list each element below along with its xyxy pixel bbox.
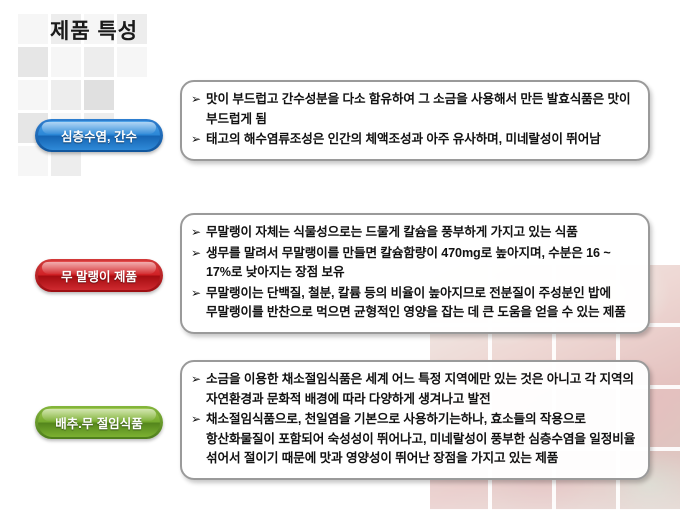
content-box-2: ➢ 무말랭이 자체는 식물성으로는 드물게 칼슘을 풍부하게 가지고 있는 식품… <box>180 213 650 334</box>
arrow-bullet-icon: ➢ <box>191 223 201 243</box>
arrow-bullet-icon: ➢ <box>191 410 201 430</box>
arrow-bullet-icon: ➢ <box>191 90 201 110</box>
list-item: ➢ 생무를 말려서 무말랭이를 만들면 칼슘함량이 470mg로 높아지며, 수… <box>191 244 636 283</box>
list-item: ➢ 채소절임식품으로, 천일염을 기본으로 사용하기는하나, 효소들의 작용으로… <box>191 410 636 469</box>
bullet-text: 채소절임식품으로, 천일염을 기본으로 사용하기는하나, 효소들의 작용으로 항… <box>206 412 635 465</box>
list-item: ➢ 소금을 이용한 채소절임식품은 세계 어느 특정 지역에만 있는 것은 아니… <box>191 370 636 409</box>
list-item: ➢ 무말랭이 자체는 식물성으로는 드물게 칼슘을 풍부하게 가지고 있는 식품 <box>191 223 636 243</box>
arrow-bullet-icon: ➢ <box>191 130 201 150</box>
section-label-pill-1[interactable]: 심층수염, 간수 <box>35 119 163 152</box>
bullet-text: 무말랭이 자체는 식물성으로는 드물게 칼슘을 풍부하게 가지고 있는 식품 <box>206 225 578 239</box>
list-item: ➢ 무말랭이는 단백질, 철분, 칼륨 등의 비율이 높아지므로 전분질이 주성… <box>191 284 636 323</box>
bullet-text: 무말랭이는 단백질, 철분, 칼륨 등의 비율이 높아지므로 전분질이 주성분인… <box>206 286 626 320</box>
arrow-bullet-icon: ➢ <box>191 284 201 304</box>
list-item: ➢ 태고의 해수염류조성은 인간의 체액조성과 아주 유사하며, 미네랄성이 뛰… <box>191 130 636 150</box>
slide-canvas: 제품 특성 심층수염, 간수 ➢ 맛이 부드럽고 간수성분을 다소 함유하여 그… <box>0 0 680 510</box>
bullet-text: 맛이 부드럽고 간수성분을 다소 함유하여 그 소금을 사용해서 만든 발효식품… <box>206 92 631 126</box>
page-title: 제품 특성 <box>50 18 138 46</box>
arrow-bullet-icon: ➢ <box>191 244 201 264</box>
section-label-text-3: 배추.무 절임식품 <box>55 413 142 432</box>
bullet-list-1: ➢ 맛이 부드럽고 간수성분을 다소 함유하여 그 소금을 사용해서 만든 발효… <box>191 90 636 150</box>
bullet-list-2: ➢ 무말랭이 자체는 식물성으로는 드물게 칼슘을 풍부하게 가지고 있는 식품… <box>191 223 636 323</box>
section-label-pill-2[interactable]: 무 말랭이 제품 <box>35 259 163 292</box>
bullet-list-3: ➢ 소금을 이용한 채소절임식품은 세계 어느 특정 지역에만 있는 것은 아니… <box>191 370 636 469</box>
section-label-text-1: 심층수염, 간수 <box>61 126 137 145</box>
section-label-pill-3[interactable]: 배추.무 절임식품 <box>35 406 163 439</box>
content-box-3: ➢ 소금을 이용한 채소절임식품은 세계 어느 특정 지역에만 있는 것은 아니… <box>180 360 650 480</box>
section-label-text-2: 무 말랭이 제품 <box>61 266 137 285</box>
arrow-bullet-icon: ➢ <box>191 370 201 390</box>
bullet-text: 소금을 이용한 채소절임식품은 세계 어느 특정 지역에만 있는 것은 아니고 … <box>206 372 634 406</box>
bullet-text: 생무를 말려서 무말랭이를 만들면 칼슘함량이 470mg로 높아지며, 수분은… <box>206 246 611 280</box>
content-box-1: ➢ 맛이 부드럽고 간수성분을 다소 함유하여 그 소금을 사용해서 만든 발효… <box>180 80 650 161</box>
bullet-text: 태고의 해수염류조성은 인간의 체액조성과 아주 유사하며, 미네랄성이 뛰어남 <box>206 132 601 146</box>
list-item: ➢ 맛이 부드럽고 간수성분을 다소 함유하여 그 소금을 사용해서 만든 발효… <box>191 90 636 129</box>
